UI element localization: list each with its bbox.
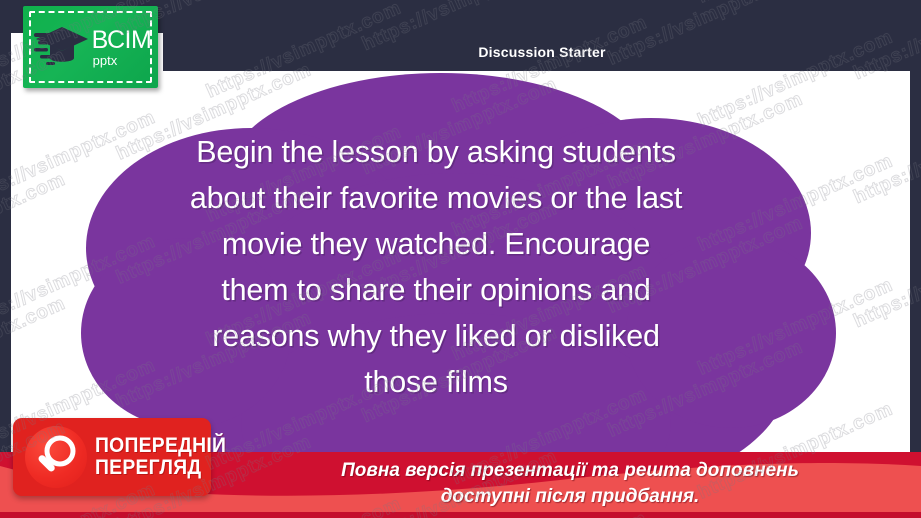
slide-title-bar: Discussion Starter: [163, 33, 921, 71]
logo-subtitle: pptx: [93, 54, 118, 67]
brand-logo[interactable]: ВСІМ pptx: [23, 6, 158, 88]
cloud-body-text: Begin the lesson by asking students abou…: [186, 129, 686, 405]
graduation-cap-icon: [34, 22, 90, 73]
preview-badge[interactable]: ПОПЕРЕДНІЙ ПЕРЕГЛЯД: [13, 418, 211, 496]
banner-line-1: Повна версія презентації та решта доповн…: [250, 458, 890, 484]
preview-badge-label: ПОПЕРЕДНІЙ ПЕРЕГЛЯД: [95, 435, 238, 479]
preview-badge-line-1: ПОПЕРЕДНІЙ: [95, 435, 226, 457]
banner-line-2: доступні після придбання.: [250, 484, 890, 510]
banner-message: Повна версія презентації та решта доповн…: [250, 458, 890, 510]
watermark-text: https://vsimpptx.com: [695, 0, 896, 8]
page-title: Discussion Starter: [478, 44, 605, 60]
presentation-slide: Begin the lesson by asking students abou…: [0, 0, 921, 518]
watermark-row: https://vsimpptx.comhttps://vsimpptx.com…: [0, 0, 921, 1]
preview-badge-line-2: ПЕРЕГЛЯД: [95, 457, 226, 479]
logo-name: ВСІМ: [92, 28, 152, 53]
magnifier-icon: [25, 426, 87, 488]
